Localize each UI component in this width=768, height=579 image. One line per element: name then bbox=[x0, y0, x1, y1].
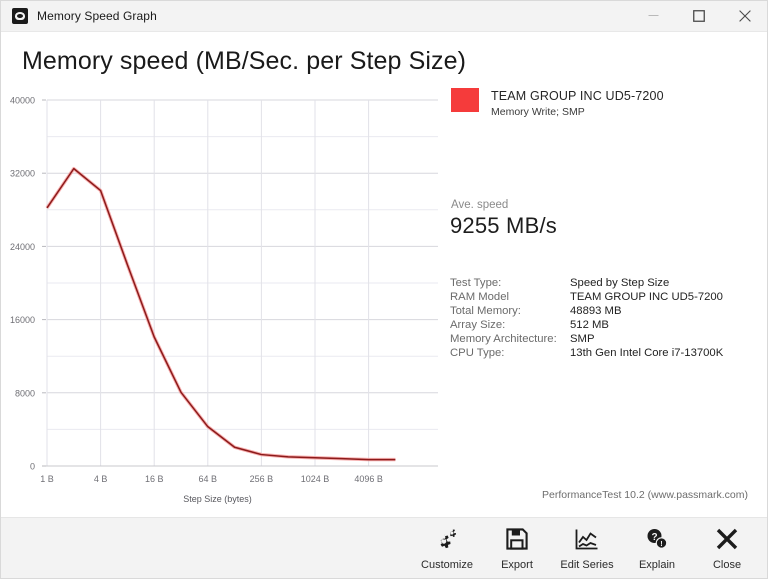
minimize-icon bbox=[648, 10, 659, 21]
average-speed-label: Ave. speed bbox=[451, 199, 508, 211]
page-title: Memory speed (MB/Sec. per Step Size) bbox=[22, 47, 466, 76]
gears-icon bbox=[434, 526, 460, 552]
legend-series-title: TEAM GROUP INC UD5-7200 bbox=[491, 89, 664, 103]
y-tick-label: 8000 bbox=[15, 388, 35, 398]
legend-text-group: TEAM GROUP INC UD5-7200 Memory Write; SM… bbox=[491, 88, 664, 118]
details-row: Memory Architecture:SMP bbox=[450, 333, 723, 347]
series-line-halo bbox=[47, 169, 395, 460]
customize-label: Customize bbox=[421, 559, 473, 571]
x-axis-title: Step Size (bytes) bbox=[183, 494, 252, 504]
close-window-button[interactable] bbox=[722, 0, 768, 31]
close-button[interactable]: Close bbox=[695, 522, 759, 576]
details-value: 512 MB bbox=[570, 319, 723, 333]
details-key: Memory Architecture: bbox=[450, 333, 570, 347]
details-value: Speed by Step Size bbox=[570, 277, 723, 291]
details-row: RAM ModelTEAM GROUP INC UD5-7200 bbox=[450, 291, 723, 305]
details-value: 48893 MB bbox=[570, 305, 723, 319]
window-title: Memory Speed Graph bbox=[37, 9, 157, 23]
edit-series-button[interactable]: Edit Series bbox=[555, 522, 619, 576]
export-button[interactable]: Export bbox=[485, 522, 549, 576]
x-tick-label: 16 B bbox=[145, 474, 164, 484]
details-key: Array Size: bbox=[450, 319, 570, 333]
close-label: Close bbox=[713, 559, 741, 571]
details-table: Test Type:Speed by Step SizeRAM ModelTEA… bbox=[450, 277, 723, 361]
details-key: RAM Model bbox=[450, 291, 570, 305]
app-icon bbox=[12, 8, 28, 24]
details-row: CPU Type:13th Gen Intel Core i7-13700K bbox=[450, 347, 723, 361]
details-key: Total Memory: bbox=[450, 305, 570, 319]
details-value: 13th Gen Intel Core i7-13700K bbox=[570, 347, 723, 361]
bottom-toolbar: Customize Export Edit Series bbox=[0, 517, 768, 579]
memory-speed-line-chart: 08000160002400032000400001 B4 B16 B64 B2… bbox=[0, 88, 450, 508]
x-tick-label: 1024 B bbox=[301, 474, 330, 484]
close-x-icon bbox=[716, 526, 738, 552]
test-details: Test Type:Speed by Step SizeRAM ModelTEA… bbox=[450, 277, 723, 361]
product-footnote: PerformanceTest 10.2 (www.passmark.com) bbox=[542, 489, 748, 501]
chart-legend: TEAM GROUP INC UD5-7200 Memory Write; SM… bbox=[451, 88, 664, 118]
average-speed-value: 9255 MB/s bbox=[450, 213, 557, 239]
legend-series-subtitle: Memory Write; SMP bbox=[491, 106, 664, 118]
minimize-button[interactable] bbox=[630, 0, 676, 31]
x-tick-label: 4 B bbox=[94, 474, 108, 484]
question-marks-icon: ? ! bbox=[645, 526, 669, 552]
maximize-icon bbox=[693, 10, 705, 22]
window-controls bbox=[630, 0, 768, 31]
close-icon bbox=[739, 10, 751, 22]
export-label: Export bbox=[501, 559, 533, 571]
explain-label: Explain bbox=[639, 559, 675, 571]
y-tick-label: 16000 bbox=[10, 315, 35, 325]
series-line bbox=[47, 169, 395, 460]
details-value: TEAM GROUP INC UD5-7200 bbox=[570, 291, 723, 305]
details-row: Array Size:512 MB bbox=[450, 319, 723, 333]
memory-speed-graph-window: Memory Speed Graph Memory speed (MB/Sec. bbox=[0, 0, 768, 579]
customize-button[interactable]: Customize bbox=[415, 522, 479, 576]
x-tick-label: 1 B bbox=[40, 474, 54, 484]
y-tick-label: 24000 bbox=[10, 242, 35, 252]
svg-text:!: ! bbox=[660, 539, 663, 548]
floppy-disk-icon bbox=[506, 526, 528, 552]
title-bar[interactable]: Memory Speed Graph bbox=[0, 0, 768, 32]
chart-labels: 08000160002400032000400001 B4 B16 B64 B2… bbox=[10, 96, 383, 505]
line-chart-icon bbox=[575, 526, 599, 552]
x-tick-label: 256 B bbox=[250, 474, 274, 484]
y-tick-label: 32000 bbox=[10, 169, 35, 179]
y-tick-label: 0 bbox=[30, 462, 35, 472]
x-tick-label: 4096 B bbox=[354, 474, 383, 484]
chart-area: 08000160002400032000400001 B4 B16 B64 B2… bbox=[0, 88, 450, 508]
explain-button[interactable]: ? ! Explain bbox=[625, 522, 689, 576]
x-tick-label: 64 B bbox=[199, 474, 218, 484]
maximize-button[interactable] bbox=[676, 0, 722, 31]
y-tick-label: 40000 bbox=[10, 96, 35, 106]
chart-series bbox=[47, 169, 395, 460]
edit-series-label: Edit Series bbox=[560, 559, 613, 571]
chart-gridlines bbox=[47, 100, 438, 466]
details-row: Test Type:Speed by Step Size bbox=[450, 277, 723, 291]
details-value: SMP bbox=[570, 333, 723, 347]
details-row: Total Memory:48893 MB bbox=[450, 305, 723, 319]
legend-color-swatch bbox=[451, 88, 479, 112]
details-key: CPU Type: bbox=[450, 347, 570, 361]
details-key: Test Type: bbox=[450, 277, 570, 291]
